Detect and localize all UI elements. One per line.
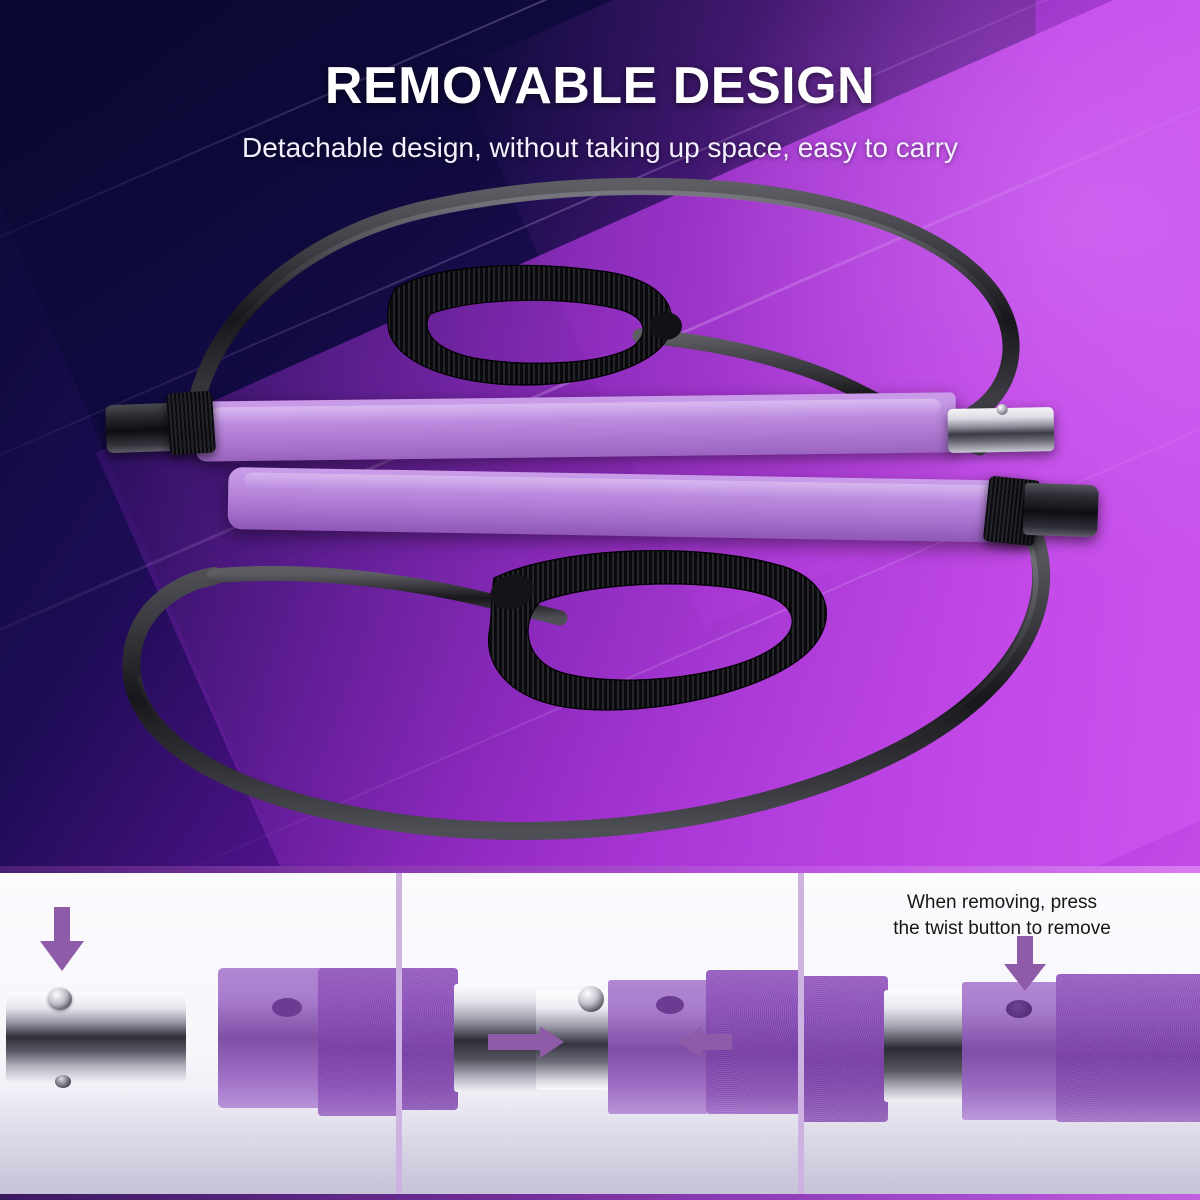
hero-bottom-edge [0, 866, 1200, 873]
foot-strap-lower [452, 540, 852, 730]
bar-end-cap-right [1023, 483, 1099, 538]
panel-floor-shadow [804, 1088, 1200, 1200]
purple-shaft [218, 968, 328, 1108]
lock-button-icon [996, 404, 1007, 415]
panel-floor-shadow [402, 1088, 798, 1200]
chrome-tube [6, 992, 186, 1082]
arrow-left-icon [602, 1024, 732, 1060]
chrome-connector [948, 407, 1055, 453]
detail-panel-row: When removing, press the twist button to… [0, 872, 1200, 1200]
hero-section: REMOVABLE DESIGN Detachable design, with… [0, 0, 1200, 872]
detail-panel-assemble [402, 872, 804, 1200]
shaft-hole-icon [656, 996, 684, 1014]
foot-strap-upper [378, 258, 698, 408]
panel-caption-line1: When removing, press [804, 890, 1200, 916]
lock-button-icon [48, 988, 72, 1010]
arrow-down-icon [1002, 934, 1048, 994]
page-title: REMOVABLE DESIGN [0, 56, 1200, 116]
arrow-down-icon [36, 905, 88, 975]
detail-panel-remove: When removing, press the twist button to… [804, 872, 1200, 1200]
lock-button-bottom-icon [55, 1075, 71, 1088]
hero-text-block: REMOVABLE DESIGN Detachable design, with… [0, 56, 1200, 164]
page-bottom-edge [0, 1194, 1200, 1200]
shaft-hole-icon [272, 998, 302, 1017]
lock-button-icon [578, 986, 604, 1012]
panel-floor-shadow [0, 1088, 396, 1200]
twist-button-icon [1006, 1000, 1032, 1018]
foam-bar-upper-highlight [211, 399, 941, 425]
page-subtitle: Detachable design, without taking up spa… [0, 132, 1200, 164]
product-infographic: REMOVABLE DESIGN Detachable design, with… [0, 0, 1200, 1200]
foam-bar-upper [196, 392, 957, 461]
chrome-tube [884, 990, 966, 1102]
detail-panel-press-button [0, 872, 402, 1200]
webbing-collar-left [166, 390, 216, 455]
